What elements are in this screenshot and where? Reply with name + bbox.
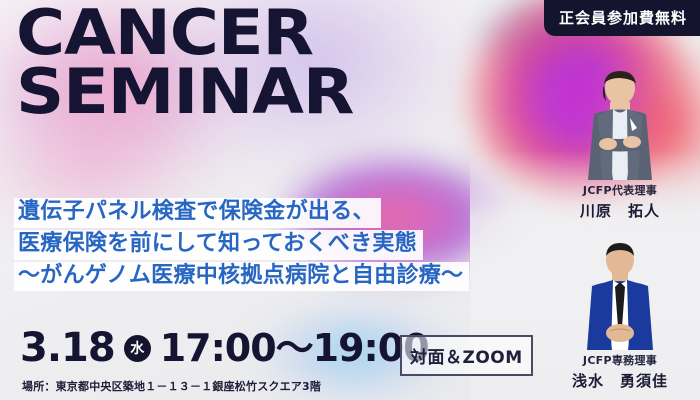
speaker-name-1: 川原 拓人 <box>540 200 700 221</box>
poster-headline: CANCER SEMINAR <box>16 4 353 122</box>
seminar-title-line-2: 医療保険を前にして知っておくべき実態 <box>14 230 423 260</box>
seminar-title-line-1: 遺伝子パネル検査で保険金が出る、 <box>14 198 381 228</box>
event-date: 3.18 <box>20 328 115 368</box>
speaker-name-2: 浅水 勇須佳 <box>540 370 700 391</box>
speaker-card-1: JCFP代表理事 川原 拓人 <box>540 62 700 221</box>
speaker-card-2: JCFP専務理事 浅水 勇須佳 <box>540 232 700 391</box>
speaker-role-1: JCFP代表理事 <box>540 182 700 198</box>
seminar-title-block: 遺伝子パネル検査で保険金が出る、 医療保険を前にして知っておくべき実態 〜がんゲ… <box>14 198 469 291</box>
seminar-title-line-3: 〜がんゲノム医療中核拠点病院と自由診療〜 <box>14 262 469 292</box>
speaker-role-2: JCFP専務理事 <box>540 352 700 368</box>
attendance-mode-badge: 対面＆ZOOM <box>400 335 533 376</box>
weekday-badge: 水 <box>124 335 151 362</box>
venue-address: 場所：東京都中央区築地１－１３－１銀座松竹スクエア3階 <box>22 378 321 394</box>
headline-line-2: SEMINAR <box>16 63 353 122</box>
speaker-photo-1 <box>570 62 670 180</box>
seminar-poster: CANCER SEMINAR 正会員参加費無料 遺伝子パネル検査で保険金が出る、… <box>0 0 700 400</box>
speaker-photo-2 <box>570 232 670 350</box>
free-admission-badge: 正会員参加費無料 <box>544 0 700 36</box>
event-time: 17:00〜19:00 <box>160 329 429 367</box>
schedule-row: 3.18 水 17:00〜19:00 <box>20 328 429 368</box>
